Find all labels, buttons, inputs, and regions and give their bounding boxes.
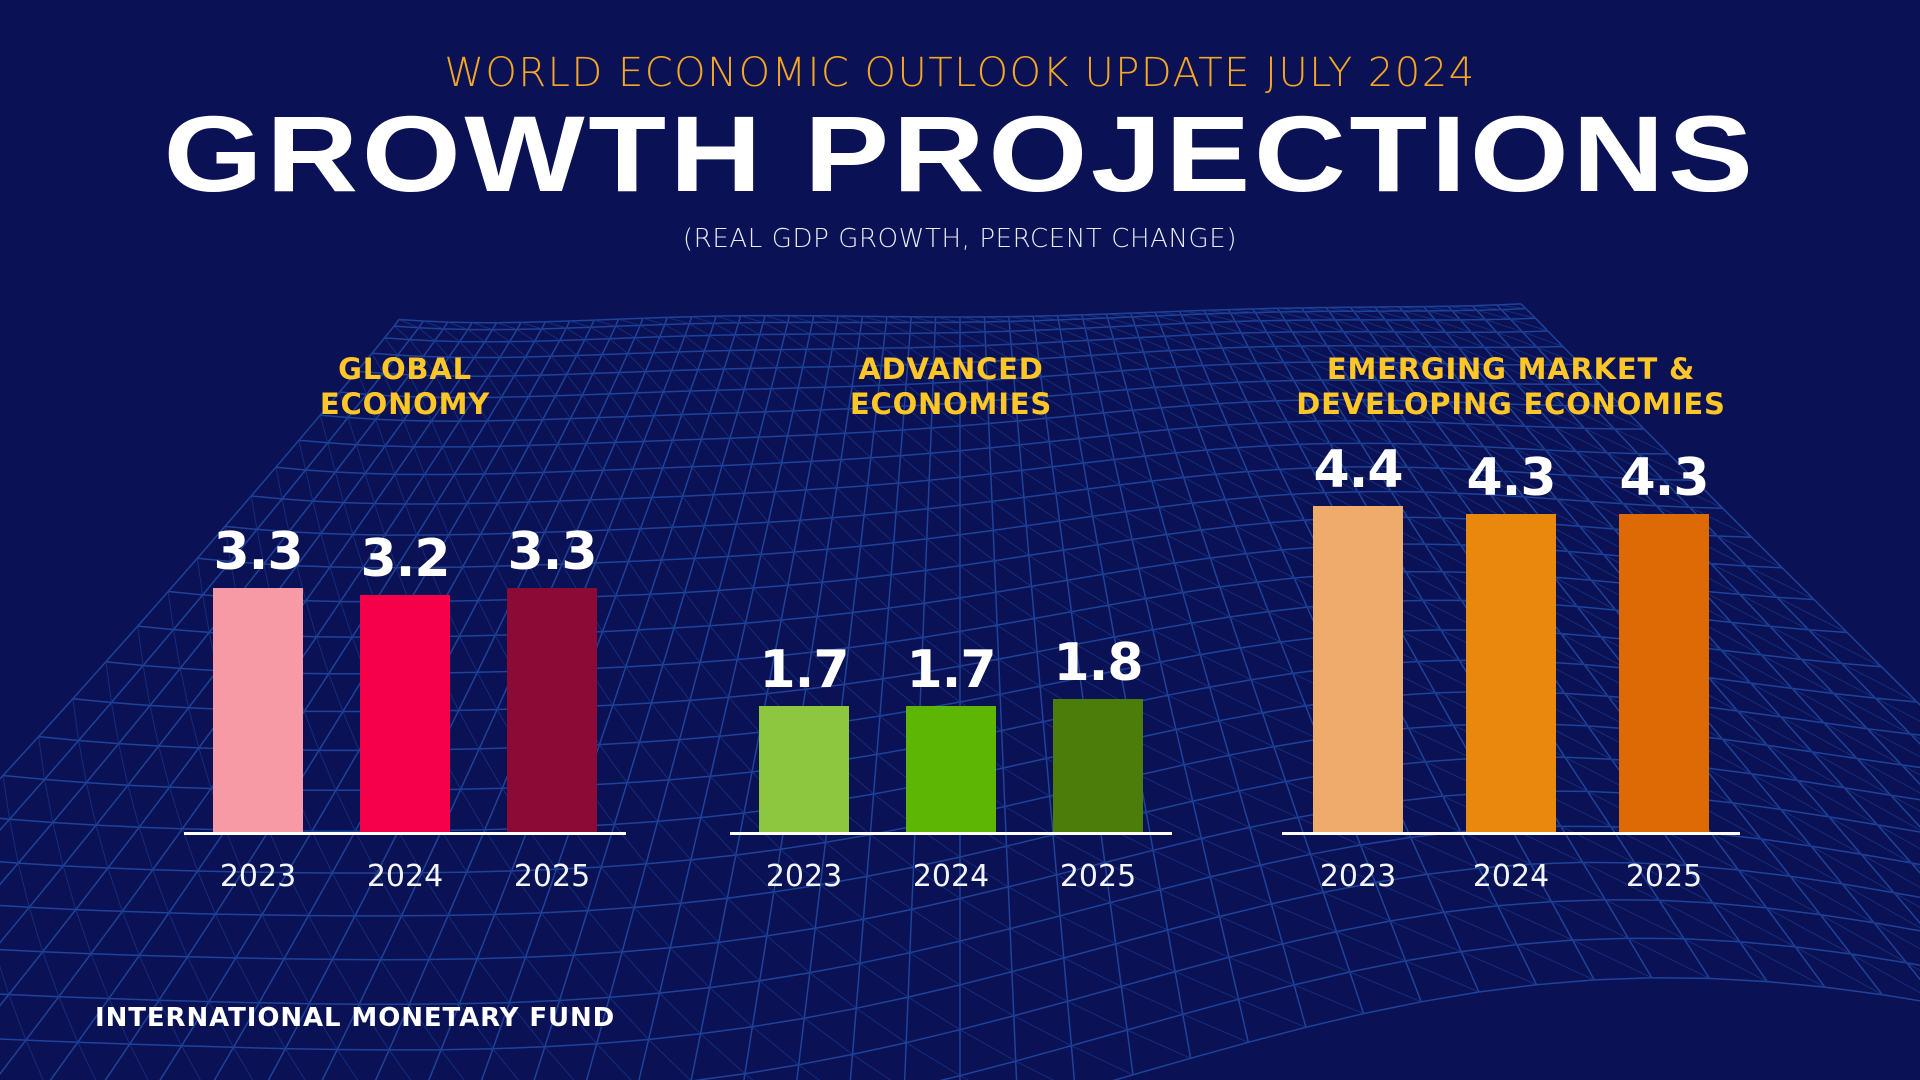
bar-year-label: 2023 xyxy=(1283,862,1433,892)
bar-2024 xyxy=(906,706,996,832)
bar-year-label: 2024 xyxy=(1436,862,1586,892)
panel-title-line: EMERGING MARKET & xyxy=(1282,352,1740,387)
bar-2023 xyxy=(213,588,303,832)
bar-2024 xyxy=(1466,514,1556,832)
bar-2025 xyxy=(1619,514,1709,832)
bar-value-label: 3.3 xyxy=(485,526,619,578)
axis-baseline xyxy=(1282,832,1740,835)
bar-year-label: 2024 xyxy=(876,862,1026,892)
bar-value-label: 3.2 xyxy=(338,533,472,585)
bar-value-label: 1.7 xyxy=(737,644,871,696)
axis-baseline xyxy=(730,832,1172,835)
bar-year-label: 2024 xyxy=(330,862,480,892)
panel-title: GLOBALECONOMY xyxy=(184,352,626,423)
infographic-canvas: WORLD ECONOMIC OUTLOOK UPDATE JULY 2024 … xyxy=(0,0,1920,1080)
bar-value-label: 1.8 xyxy=(1031,637,1165,689)
bar-2024 xyxy=(360,595,450,832)
bar-value-label: 3.3 xyxy=(191,526,325,578)
bar-year-label: 2023 xyxy=(183,862,333,892)
bar-year-label: 2025 xyxy=(477,862,627,892)
bar-2023 xyxy=(759,706,849,832)
bar-value-label: 4.3 xyxy=(1444,452,1578,504)
panel-title-line: ECONOMIES xyxy=(730,387,1172,422)
bar-value-label: 4.3 xyxy=(1597,452,1731,504)
bar-2025 xyxy=(1053,699,1143,832)
chart-panel-3: EMERGING MARKET &DEVELOPING ECONOMIES4.4… xyxy=(1282,0,1740,1080)
panel-title-line: DEVELOPING ECONOMIES xyxy=(1282,387,1740,422)
organization-footer: INTERNATIONAL MONETARY FUND xyxy=(95,1003,615,1033)
panel-title-line: ADVANCED xyxy=(730,352,1172,387)
bar-year-label: 2025 xyxy=(1589,862,1739,892)
panel-title-line: GLOBAL xyxy=(184,352,626,387)
bar-2025 xyxy=(507,588,597,832)
bar-year-label: 2023 xyxy=(729,862,879,892)
chart-panel-1: GLOBALECONOMY3.320233.220243.32025 xyxy=(184,0,626,1080)
bar-year-label: 2025 xyxy=(1023,862,1173,892)
chart-panel-2: ADVANCEDECONOMIES1.720231.720241.82025 xyxy=(730,0,1172,1080)
panel-title-line: ECONOMY xyxy=(184,387,626,422)
bar-value-label: 1.7 xyxy=(884,644,1018,696)
bar-value-label: 4.4 xyxy=(1291,444,1425,496)
panel-title: ADVANCEDECONOMIES xyxy=(730,352,1172,423)
axis-baseline xyxy=(184,832,626,835)
panel-title: EMERGING MARKET &DEVELOPING ECONOMIES xyxy=(1282,352,1740,423)
bar-2023 xyxy=(1313,506,1403,832)
